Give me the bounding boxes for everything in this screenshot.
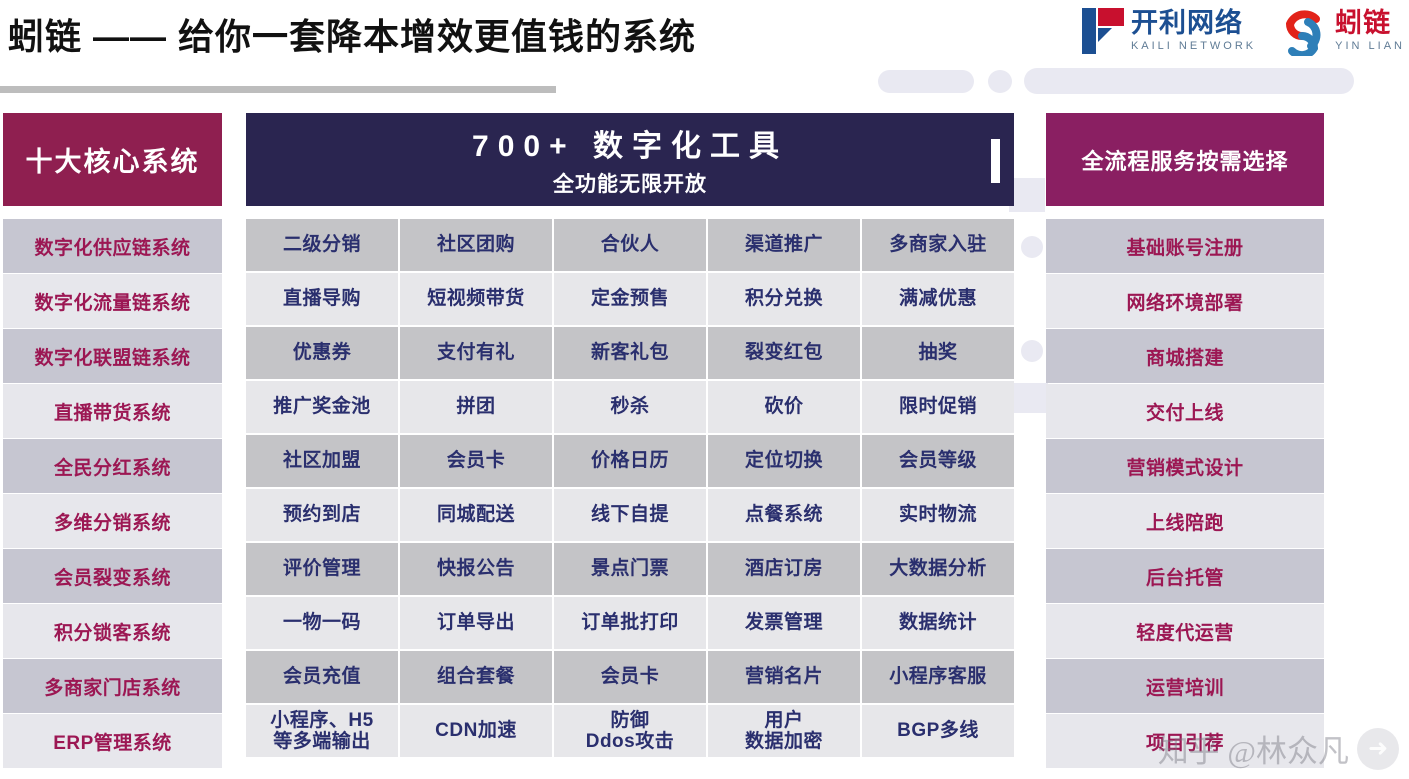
tool-cell[interactable]: 社区团购 (400, 219, 552, 271)
core-system-item[interactable]: 数字化联盟链系统 (3, 329, 222, 383)
tool-cell[interactable]: 线下自提 (554, 489, 706, 541)
tool-cell[interactable]: 评价管理 (246, 543, 398, 595)
kaili-network-logo: 开利网络 KAILI NETWORK (1082, 8, 1256, 54)
tool-cell[interactable]: 社区加盟 (246, 435, 398, 487)
tool-cell[interactable]: 大数据分析 (862, 543, 1014, 595)
core-system-item[interactable]: 会员裂变系统 (3, 549, 222, 603)
center-banner: 700+ 数字化工具 全功能无限开放 (246, 113, 1014, 206)
tool-cell[interactable]: 订单导出 (400, 597, 552, 649)
tool-cell[interactable]: 发票管理 (708, 597, 860, 649)
tool-cell[interactable]: 拼团 (400, 381, 552, 433)
service-step-item[interactable]: 轻度代运营 (1046, 604, 1324, 658)
page-title: 蚓链 —— 给你一套降本增效更值钱的系统 (8, 8, 696, 60)
service-step-item[interactable]: 交付上线 (1046, 384, 1324, 438)
tool-cell[interactable]: 快报公告 (400, 543, 552, 595)
core-system-item[interactable]: 全民分红系统 (3, 439, 222, 493)
yinlian-logo-cn: 蚓链 (1335, 10, 1405, 37)
tool-cell[interactable]: 小程序客服 (862, 651, 1014, 703)
arrow-right-icon: ➜ (1357, 728, 1399, 770)
tool-cell[interactable]: 实时物流 (862, 489, 1014, 541)
tool-cell[interactable]: 防御 Ddos攻击 (554, 705, 706, 757)
tool-cell[interactable]: 合伙人 (554, 219, 706, 271)
service-step-item[interactable]: 网络环境部署 (1046, 274, 1324, 328)
tool-cell[interactable]: 裂变红包 (708, 327, 860, 379)
service-step-item[interactable]: 商城搭建 (1046, 329, 1324, 383)
tool-cell[interactable]: 一物一码 (246, 597, 398, 649)
kaili-logo-en: KAILI NETWORK (1131, 41, 1256, 52)
decorative-rect-shape (1008, 383, 1048, 413)
tool-cell[interactable]: 酒店订房 (708, 543, 860, 595)
service-step-item[interactable]: 上线陪跑 (1046, 494, 1324, 548)
tool-cell[interactable]: 砍价 (708, 381, 860, 433)
service-step-item[interactable]: 营销模式设计 (1046, 439, 1324, 493)
tool-cell[interactable]: 会员卡 (554, 651, 706, 703)
tool-cell[interactable]: 点餐系统 (708, 489, 860, 541)
core-system-item[interactable]: 直播带货系统 (3, 384, 222, 438)
core-system-item[interactable]: 多商家门店系统 (3, 659, 222, 713)
core-system-item[interactable]: 积分锁客系统 (3, 604, 222, 658)
yinlian-mark-icon (1278, 6, 1328, 56)
title-underline-bar (0, 86, 556, 93)
tool-cell[interactable]: 会员充值 (246, 651, 398, 703)
service-step-item[interactable]: 后台托管 (1046, 549, 1324, 603)
tool-cell[interactable]: 新客礼包 (554, 327, 706, 379)
tool-cell[interactable]: 景点门票 (554, 543, 706, 595)
kaili-logo-cn: 开利网络 (1131, 10, 1256, 37)
tool-cell[interactable]: 渠道推广 (708, 219, 860, 271)
tool-cell[interactable]: CDN加速 (400, 705, 552, 757)
tool-cell[interactable]: 同城配送 (400, 489, 552, 541)
yinlian-logo-en: YIN LIAN (1335, 41, 1405, 52)
tool-cell[interactable]: 优惠券 (246, 327, 398, 379)
tool-cell[interactable]: 订单批打印 (554, 597, 706, 649)
tool-cell[interactable]: 预约到店 (246, 489, 398, 541)
core-system-item[interactable]: 多维分销系统 (3, 494, 222, 548)
tool-cell[interactable]: 支付有礼 (400, 327, 552, 379)
kaili-mark-icon (1082, 8, 1124, 54)
service-step-item[interactable]: 基础账号注册 (1046, 219, 1324, 273)
tool-cell[interactable]: 满减优惠 (862, 273, 1014, 325)
right-column-list: 基础账号注册网络环境部署商城搭建交付上线营销模式设计上线陪跑后台托管轻度代运营运… (1046, 219, 1324, 769)
right-column-heading: 全流程服务按需选择 (1046, 113, 1324, 206)
left-column-heading: 十大核心系统 (3, 113, 222, 206)
tool-cell[interactable]: 推广奖金池 (246, 381, 398, 433)
decorative-pill-shape (878, 70, 974, 93)
tool-cell[interactable]: 定位切换 (708, 435, 860, 487)
tool-cell[interactable]: 会员卡 (400, 435, 552, 487)
tool-cell[interactable]: 定金预售 (554, 273, 706, 325)
tool-cell[interactable]: 抽奖 (862, 327, 1014, 379)
decorative-rect-shape (1009, 178, 1045, 212)
tool-cell[interactable]: 直播导购 (246, 273, 398, 325)
tool-cell[interactable]: 数据统计 (862, 597, 1014, 649)
decorative-circle-shape (988, 70, 1012, 93)
tool-cell[interactable]: 短视频带货 (400, 273, 552, 325)
tools-grid: 二级分销社区团购合伙人渠道推广多商家入驻直播导购短视频带货定金预售积分兑换满减优… (246, 219, 1014, 757)
tool-cell[interactable]: 多商家入驻 (862, 219, 1014, 271)
slide-root: 蚓链 —— 给你一套降本增效更值钱的系统 开利网络 KAILI NETWORK (0, 0, 1409, 779)
left-column-list: 数字化供应链系统数字化流量链系统数字化联盟链系统直播带货系统全民分红系统多维分销… (3, 219, 222, 769)
logo-group: 开利网络 KAILI NETWORK 蚓链 YIN LIAN (1082, 0, 1405, 62)
center-banner-subtitle: 全功能无限开放 (553, 168, 707, 198)
decorative-circle-shape (1021, 236, 1043, 258)
tool-cell[interactable]: 组合套餐 (400, 651, 552, 703)
tool-cell[interactable]: 营销名片 (708, 651, 860, 703)
center-banner-accent-bar (991, 139, 1000, 183)
core-system-item[interactable]: ERP管理系统 (3, 714, 222, 768)
tool-cell[interactable]: 积分兑换 (708, 273, 860, 325)
yinlian-logo: 蚓链 YIN LIAN (1278, 6, 1405, 56)
tool-cell[interactable]: 价格日历 (554, 435, 706, 487)
tool-cell[interactable]: 限时促销 (862, 381, 1014, 433)
service-step-item[interactable]: 项目引荐 (1046, 714, 1324, 768)
tool-cell[interactable]: 会员等级 (862, 435, 1014, 487)
tool-cell[interactable]: 二级分销 (246, 219, 398, 271)
decorative-pill-shape (1024, 68, 1354, 94)
tool-cell[interactable]: 秒杀 (554, 381, 706, 433)
tool-cell[interactable]: BGP多线 (862, 705, 1014, 757)
tool-cell[interactable]: 用户 数据加密 (708, 705, 860, 757)
decorative-circle-shape (1021, 340, 1043, 362)
service-step-item[interactable]: 运营培训 (1046, 659, 1324, 713)
core-system-item[interactable]: 数字化流量链系统 (3, 274, 222, 328)
center-banner-title: 700+ 数字化工具 (472, 121, 788, 165)
core-system-item[interactable]: 数字化供应链系统 (3, 219, 222, 273)
tool-cell[interactable]: 小程序、H5 等多端输出 (246, 705, 398, 757)
